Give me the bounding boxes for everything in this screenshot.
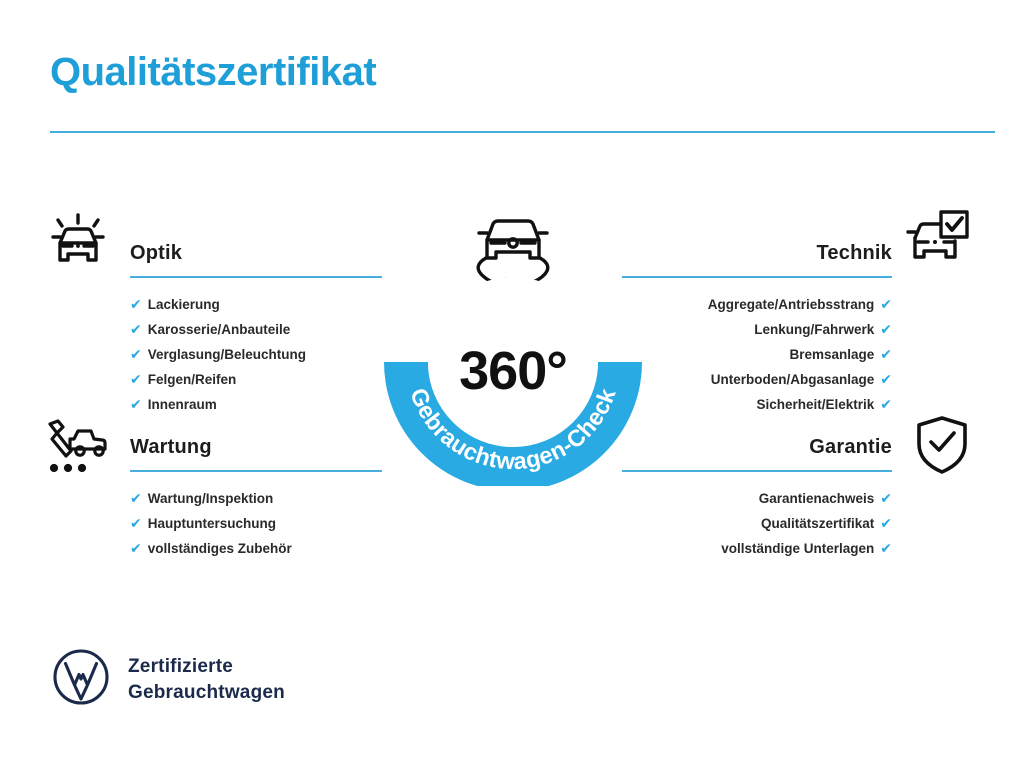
list-item: Qualitätszertifikat✔	[622, 511, 892, 536]
vw-logo-icon	[52, 648, 110, 711]
list-item: Garantienachweis✔	[622, 486, 892, 511]
list-item-label: vollständiges Zubehör	[148, 541, 292, 556]
list-item: ✔Lackierung	[130, 292, 382, 317]
garantie-divider	[622, 470, 892, 472]
list-item-label: vollständige Unterlagen	[721, 541, 874, 556]
check-icon: ✔	[880, 292, 892, 316]
list-item-label: Unterboden/Abgasanlage	[711, 372, 875, 387]
vw-lockup: Zertifizierte Gebrauchtwagen	[52, 648, 285, 711]
optik-title: Optik	[130, 238, 382, 268]
list-item-label: Innenraum	[148, 397, 217, 412]
check-icon: ✔	[880, 511, 892, 535]
check-icon: ✔	[130, 367, 142, 391]
check-icon: ✔	[130, 486, 142, 510]
wrench-car-icon	[44, 418, 110, 481]
check-icon: ✔	[880, 317, 892, 341]
list-item: vollständige Unterlagen✔	[622, 536, 892, 561]
wartung-divider	[130, 470, 382, 472]
wartung-list: ✔Wartung/Inspektion ✔Hauptuntersuchung ✔…	[130, 486, 382, 561]
list-item: ✔Hauptuntersuchung	[130, 511, 382, 536]
list-item-label: Hauptuntersuchung	[148, 516, 276, 531]
optik-header: Optik	[130, 238, 382, 282]
technik-divider	[622, 276, 892, 278]
check-icon: ✔	[130, 317, 142, 341]
wartung-title: Wartung	[130, 432, 382, 462]
technik-title: Technik	[622, 238, 892, 268]
car-checkbox-icon	[906, 208, 970, 273]
check-icon: ✔	[880, 392, 892, 416]
technik-header: Technik	[622, 238, 892, 282]
wartung-header: Wartung	[130, 432, 382, 476]
list-item-label: Wartung/Inspektion	[148, 491, 274, 506]
list-item: ✔Innenraum	[130, 392, 382, 417]
360-check-badge: Gebrauchtwagen-Check 360°	[374, 196, 652, 486]
check-icon: ✔	[130, 292, 142, 316]
list-item: ✔Wartung/Inspektion	[130, 486, 382, 511]
optik-list: ✔Lackierung ✔Karosserie/Anbauteile ✔Verg…	[130, 292, 382, 417]
list-item: ✔Felgen/Reifen	[130, 367, 382, 392]
check-icon: ✔	[130, 342, 142, 366]
check-icon: ✔	[130, 511, 142, 535]
header-divider	[50, 131, 995, 133]
optik-divider	[130, 276, 382, 278]
list-item-label: Bremsanlage	[789, 347, 874, 362]
list-item: ✔Karosserie/Anbauteile	[130, 317, 382, 342]
check-icon: ✔	[130, 536, 142, 560]
check-icon: ✔	[880, 342, 892, 366]
list-item-label: Sicherheit/Elektrik	[756, 397, 874, 412]
shield-check-icon	[914, 414, 970, 481]
check-icon: ✔	[880, 367, 892, 391]
vw-lockup-line2: Gebrauchtwagen	[128, 680, 285, 706]
vw-lockup-line1: Zertifizierte	[128, 654, 285, 680]
check-icon: ✔	[880, 536, 892, 560]
list-item-label: Aggregate/Antriebsstrang	[708, 297, 875, 312]
list-item: Bremsanlage✔	[622, 342, 892, 367]
list-item: Lenkung/Fahrwerk✔	[622, 317, 892, 342]
garantie-list: Garantienachweis✔ Qualitätszertifikat✔ v…	[622, 486, 892, 561]
check-icon: ✔	[130, 392, 142, 416]
technik-list: Aggregate/Antriebsstrang✔ Lenkung/Fahrwe…	[622, 292, 892, 417]
check-icon: ✔	[880, 486, 892, 510]
list-item-label: Qualitätszertifikat	[761, 516, 874, 531]
list-item: Aggregate/Antriebsstrang✔	[622, 292, 892, 317]
badge-value: 360°	[374, 344, 652, 398]
list-item-label: Verglasung/Beleuchtung	[148, 347, 306, 362]
vw-lockup-text: Zertifizierte Gebrauchtwagen	[128, 654, 285, 706]
list-item-label: Felgen/Reifen	[148, 372, 237, 387]
page-title: Qualitätszertifikat	[50, 50, 376, 94]
list-item-label: Lackierung	[148, 297, 220, 312]
list-item-label: Karosserie/Anbauteile	[148, 322, 291, 337]
list-item-label: Lenkung/Fahrwerk	[754, 322, 874, 337]
list-item-label: Garantienachweis	[759, 491, 875, 506]
garantie-header: Garantie	[622, 432, 892, 476]
list-item: Unterboden/Abgasanlage✔	[622, 367, 892, 392]
certificate-page: Qualitätszertifikat Optik ✔Lackierung ✔K…	[0, 0, 1024, 768]
car-shine-icon	[44, 206, 112, 279]
list-item: Sicherheit/Elektrik✔	[622, 392, 892, 417]
garantie-title: Garantie	[622, 432, 892, 462]
list-item: ✔Verglasung/Beleuchtung	[130, 342, 382, 367]
list-item: ✔vollständiges Zubehör	[130, 536, 382, 561]
